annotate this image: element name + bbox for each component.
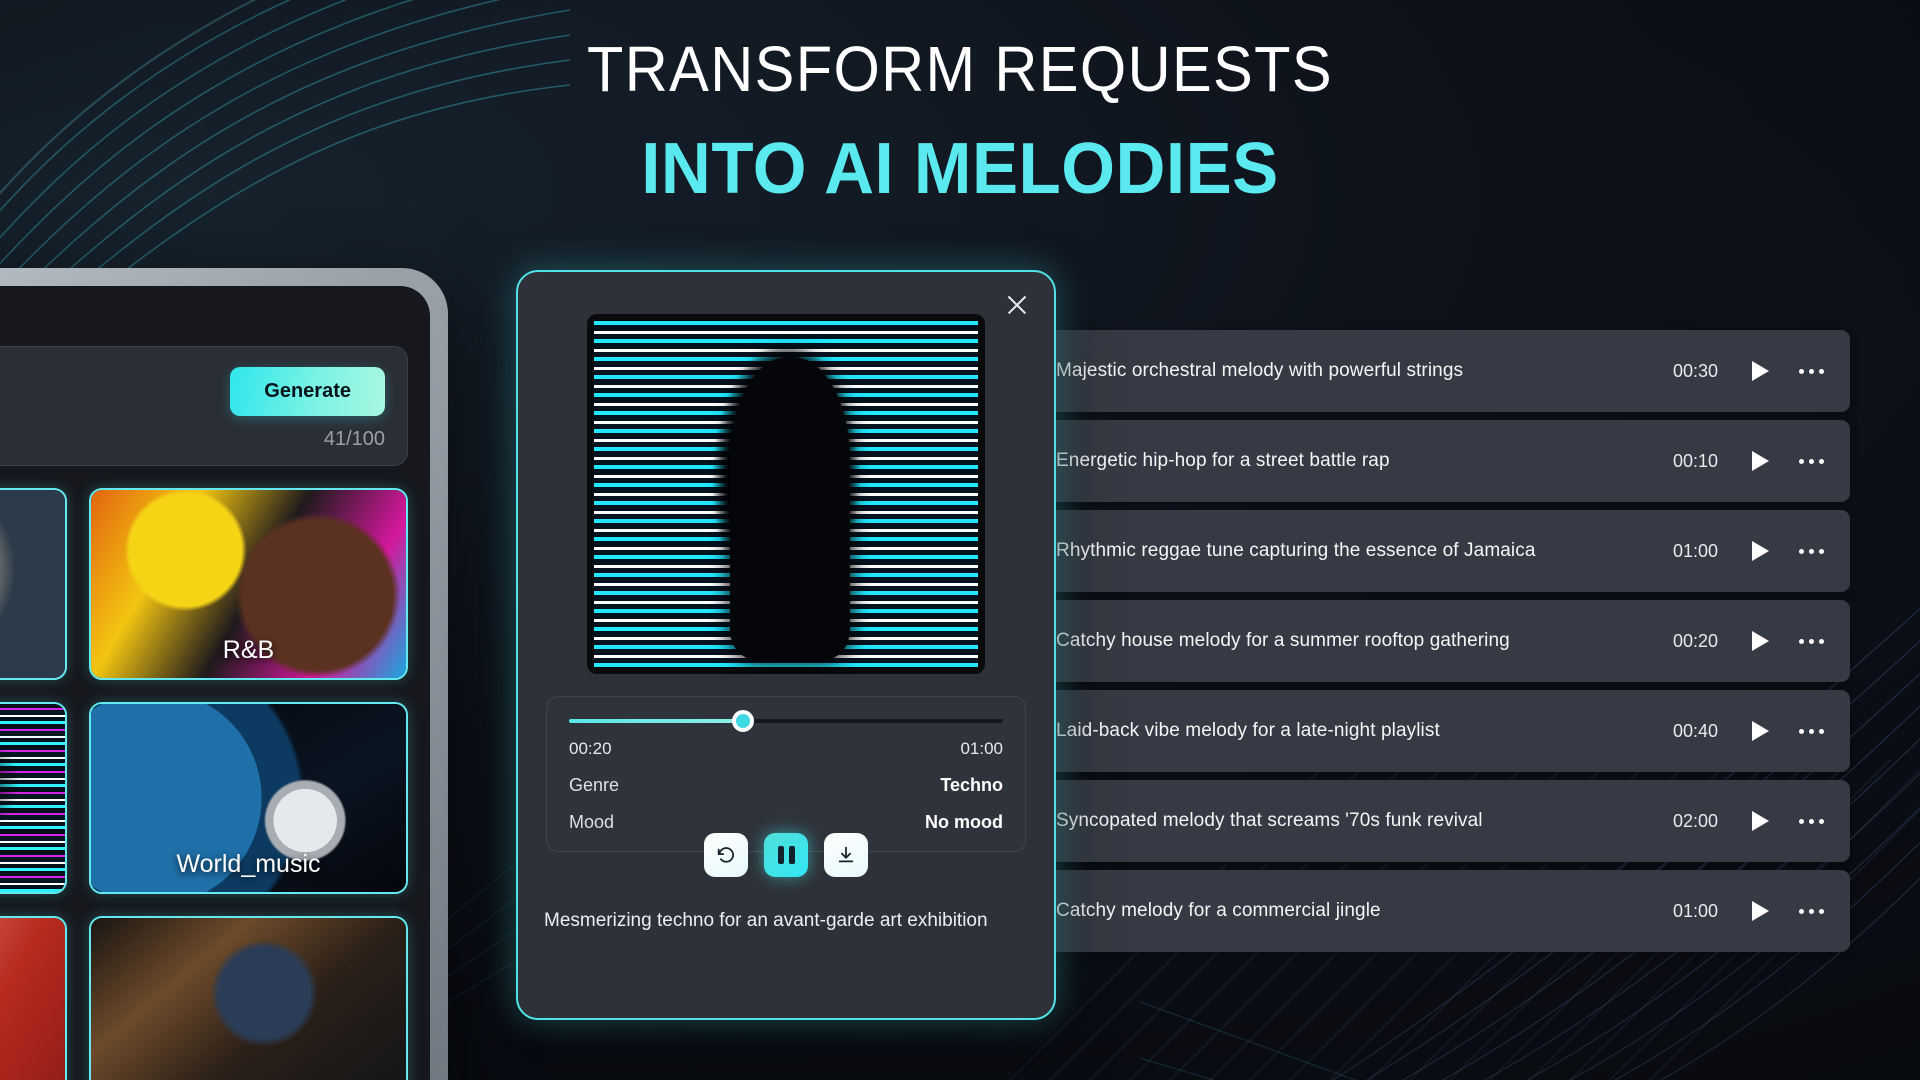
orchestra-thumbnail [91,918,406,1080]
more-options-icon[interactable] [1799,459,1824,464]
rap-thumbnail [0,918,65,1080]
genre-card-rnb[interactable]: R&B [89,488,408,680]
prompt-input-card: Generate 41/100 [0,346,408,466]
player-controls [547,833,1025,877]
page-title: TRANSFORM REQUESTS INTO AI MELODIES [0,34,1920,207]
artwork-silhouette [730,357,849,659]
track-title: Laid-back vibe melody for a late-night p… [1056,720,1673,742]
play-icon[interactable] [1752,541,1769,561]
play-icon[interactable] [1752,811,1769,831]
meta-value: Techno [940,775,1003,796]
meta-row-mood: Mood No mood [569,812,1003,833]
genre-label: Techno [0,850,65,879]
more-options-icon[interactable] [1799,729,1824,734]
total-time: 01:00 [960,739,1003,759]
track-duration: 02:00 [1673,811,1718,832]
genre-label: World_music [91,850,406,879]
track-prompt-text: Mesmerizing techno for an avant-garde ar… [544,908,1028,935]
track-duration: 01:00 [1673,541,1718,562]
genre-card-rap[interactable] [0,916,67,1080]
time-row: 00:20 01:00 [569,739,1003,759]
tablet-screen: Generate 41/100 Lo-fi R&B Techno World_m… [0,286,430,1080]
tablet-device-mockup: Generate 41/100 Lo-fi R&B Techno World_m… [0,268,448,1080]
more-options-icon[interactable] [1799,369,1824,374]
genre-label: Lo-fi [0,636,65,665]
more-options-icon[interactable] [1799,909,1824,914]
current-time: 00:20 [569,739,612,759]
progress-fill [569,719,743,723]
genre-card-world-music[interactable]: World_music [89,702,408,894]
genre-grid: Lo-fi R&B Techno World_music [0,488,408,1080]
meta-row-genre: Genre Techno [569,775,1003,796]
track-title: Catchy house melody for a summer rooftop… [1056,630,1673,652]
replay-button[interactable] [704,833,748,877]
close-icon[interactable] [1002,290,1032,320]
headline-line-1: TRANSFORM REQUESTS [67,34,1853,106]
play-icon[interactable] [1752,361,1769,381]
table-row[interactable]: Rhythmic reggae tune capturing the essen… [1040,510,1850,592]
play-icon[interactable] [1752,721,1769,741]
meta-label: Mood [569,812,614,833]
track-duration: 01:00 [1673,901,1718,922]
track-duration: 00:40 [1673,721,1718,742]
table-row[interactable]: Energetic hip-hop for a street battle ra… [1040,420,1850,502]
modal-album-artwork [587,314,985,674]
track-title: Rhythmic reggae tune capturing the essen… [1056,540,1673,562]
progress-knob[interactable] [732,710,754,732]
table-row[interactable]: Catchy melody for a commercial jingle 01… [1040,870,1850,952]
generate-button[interactable]: Generate [230,367,385,416]
genre-card-techno[interactable]: Techno [0,702,67,894]
track-title: Catchy melody for a commercial jingle [1056,900,1673,922]
download-button[interactable] [824,833,868,877]
more-options-icon[interactable] [1799,639,1824,644]
download-icon [835,844,857,866]
progress-slider[interactable] [569,719,1003,723]
track-duration: 00:20 [1673,631,1718,652]
track-duration: 00:10 [1673,451,1718,472]
table-row[interactable]: Syncopated melody that screams '70s funk… [1040,780,1850,862]
track-title: Majestic orchestral melody with powerful… [1056,360,1673,382]
genre-card-lofi[interactable]: Lo-fi [0,488,67,680]
track-list: Majestic orchestral melody with powerful… [1040,330,1850,960]
play-icon[interactable] [1752,901,1769,921]
more-options-icon[interactable] [1799,819,1824,824]
track-title: Energetic hip-hop for a street battle ra… [1056,450,1673,472]
play-icon[interactable] [1752,631,1769,651]
headline-line-2: INTO AI MELODIES [38,132,1881,207]
genre-label: R&B [91,636,406,665]
table-row[interactable]: Catchy house melody for a summer rooftop… [1040,600,1850,682]
more-options-icon[interactable] [1799,549,1824,554]
track-title: Syncopated melody that screams '70s funk… [1056,810,1673,832]
meta-value: No mood [925,812,1003,833]
play-icon[interactable] [1752,451,1769,471]
track-player-modal: 00:20 01:00 Genre Techno Mood No mood [516,270,1056,1020]
meta-label: Genre [569,775,619,796]
audio-player-panel: 00:20 01:00 Genre Techno Mood No mood [546,696,1026,852]
table-row[interactable]: Majestic orchestral melody with powerful… [1040,330,1850,412]
track-duration: 00:30 [1673,361,1718,382]
pause-icon [778,846,795,864]
genre-card-orchestra[interactable] [89,916,408,1080]
character-counter: 41/100 [324,428,385,451]
replay-icon [715,844,737,866]
table-row[interactable]: Laid-back vibe melody for a late-night p… [1040,690,1850,772]
pause-button[interactable] [764,833,808,877]
